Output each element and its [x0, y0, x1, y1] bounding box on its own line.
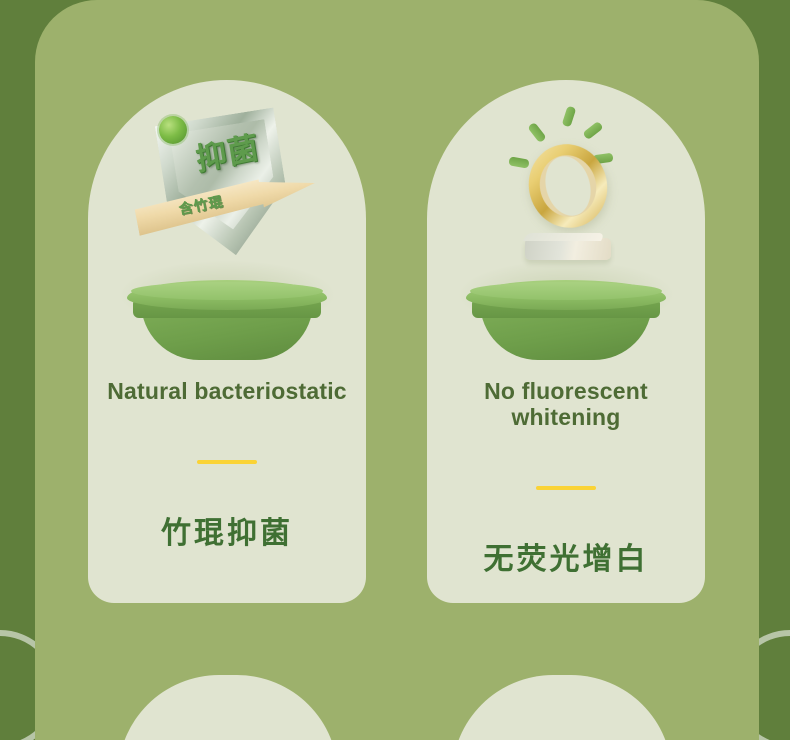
feature-card-next-right[interactable]: [452, 675, 672, 740]
white-bar-shape: [525, 238, 611, 260]
sun-ray-icon: [562, 106, 577, 128]
feature-card-natural-bacteriostatic[interactable]: 抑菌 含竹琨 Natural bacteriostatic 竹琨抑菌: [88, 80, 366, 603]
shield-badge-icon: 抑菌 含竹琨: [137, 98, 317, 278]
sun-ray-icon: [582, 121, 603, 140]
gold-ring-shape: [519, 135, 617, 237]
card-illustration-stage: [427, 80, 705, 370]
card-title-english: No fluorescent whitening: [427, 378, 705, 430]
feature-card-next-left[interactable]: [118, 675, 338, 740]
feature-card-no-fluorescent-whitening[interactable]: No fluorescent whitening 无荧光增白: [427, 80, 705, 603]
card-title-chinese: 竹琨抑菌: [161, 508, 293, 552]
sun-ring-icon: [471, 106, 661, 296]
podium-pedestal: [466, 280, 666, 366]
feature-card-list: 抑菌 含竹琨 Natural bacteriostatic 竹琨抑菌: [0, 0, 790, 740]
card-illustration-stage: 抑菌 含竹琨: [88, 80, 366, 370]
title-divider: [536, 486, 596, 490]
podium-pedestal: [127, 280, 327, 366]
card-title-chinese: 无荧光增白: [484, 534, 649, 578]
card-title-english: Natural bacteriostatic: [93, 378, 361, 404]
title-divider: [197, 460, 257, 464]
sun-ray-icon: [508, 156, 529, 168]
sun-ray-icon: [527, 122, 546, 143]
